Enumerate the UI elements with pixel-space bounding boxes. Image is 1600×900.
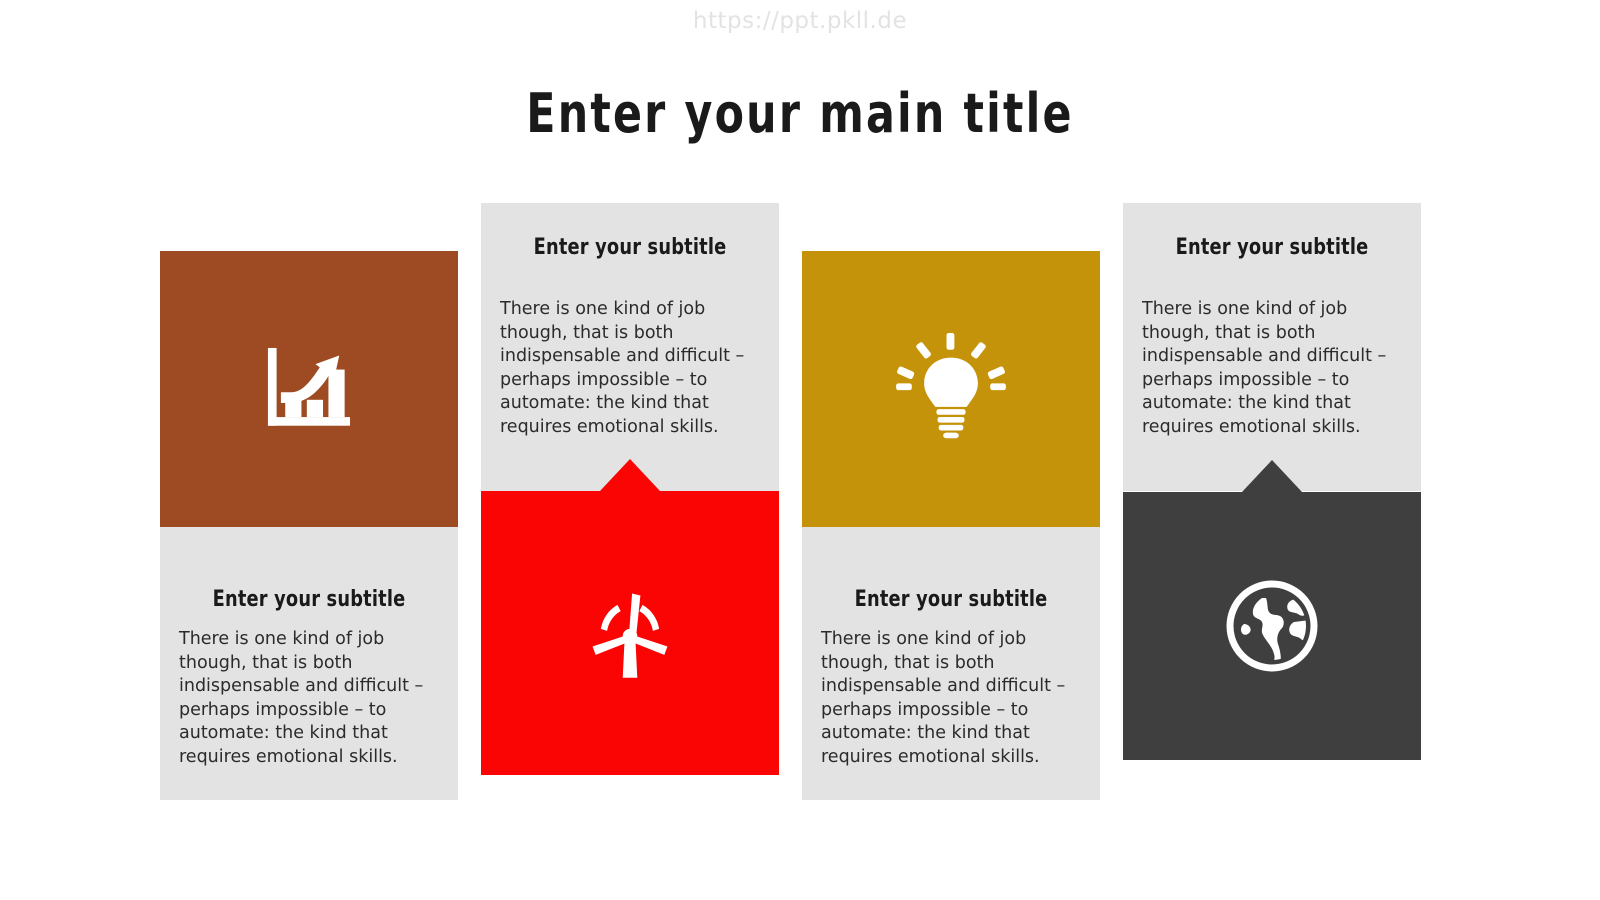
column-2-icon-wrap xyxy=(481,491,779,775)
globe-icon xyxy=(1222,576,1322,676)
column-4-pointer-arrow xyxy=(1242,460,1302,492)
column-1-body-text: There is one kind of job though, that is… xyxy=(160,628,458,769)
columns-container: Enter your subtitle There is one kind of… xyxy=(0,0,1600,900)
column-3-icon-wrap xyxy=(802,251,1100,527)
column-2-text-panel: Enter your subtitle There is one kind of… xyxy=(481,203,779,491)
column-4-icon-wrap xyxy=(1123,492,1421,760)
column-2-subtitle: Enter your subtitle xyxy=(496,235,764,260)
column-2-pointer-arrow xyxy=(600,459,660,491)
column-1-icon-wrap xyxy=(160,251,458,527)
column-3-subtitle: Enter your subtitle xyxy=(817,587,1085,612)
growth-chart-icon xyxy=(255,335,363,443)
column-3-text-panel: Enter your subtitle There is one kind of… xyxy=(802,527,1100,800)
slide-canvas: https://ppt.pkll.de Enter your main titl… xyxy=(0,0,1600,900)
column-4-body-text: There is one kind of job though, that is… xyxy=(1123,298,1421,439)
column-4-subtitle: Enter your subtitle xyxy=(1138,235,1406,260)
column-2-body-text: There is one kind of job though, that is… xyxy=(481,298,779,439)
column-1-text-panel: Enter your subtitle There is one kind of… xyxy=(160,527,458,800)
lightbulb-icon xyxy=(895,333,1007,445)
wind-turbine-icon xyxy=(578,581,682,685)
column-3-body-text: There is one kind of job though, that is… xyxy=(802,628,1100,769)
column-4-text-panel: Enter your subtitle There is one kind of… xyxy=(1123,203,1421,491)
column-1-subtitle: Enter your subtitle xyxy=(175,587,443,612)
